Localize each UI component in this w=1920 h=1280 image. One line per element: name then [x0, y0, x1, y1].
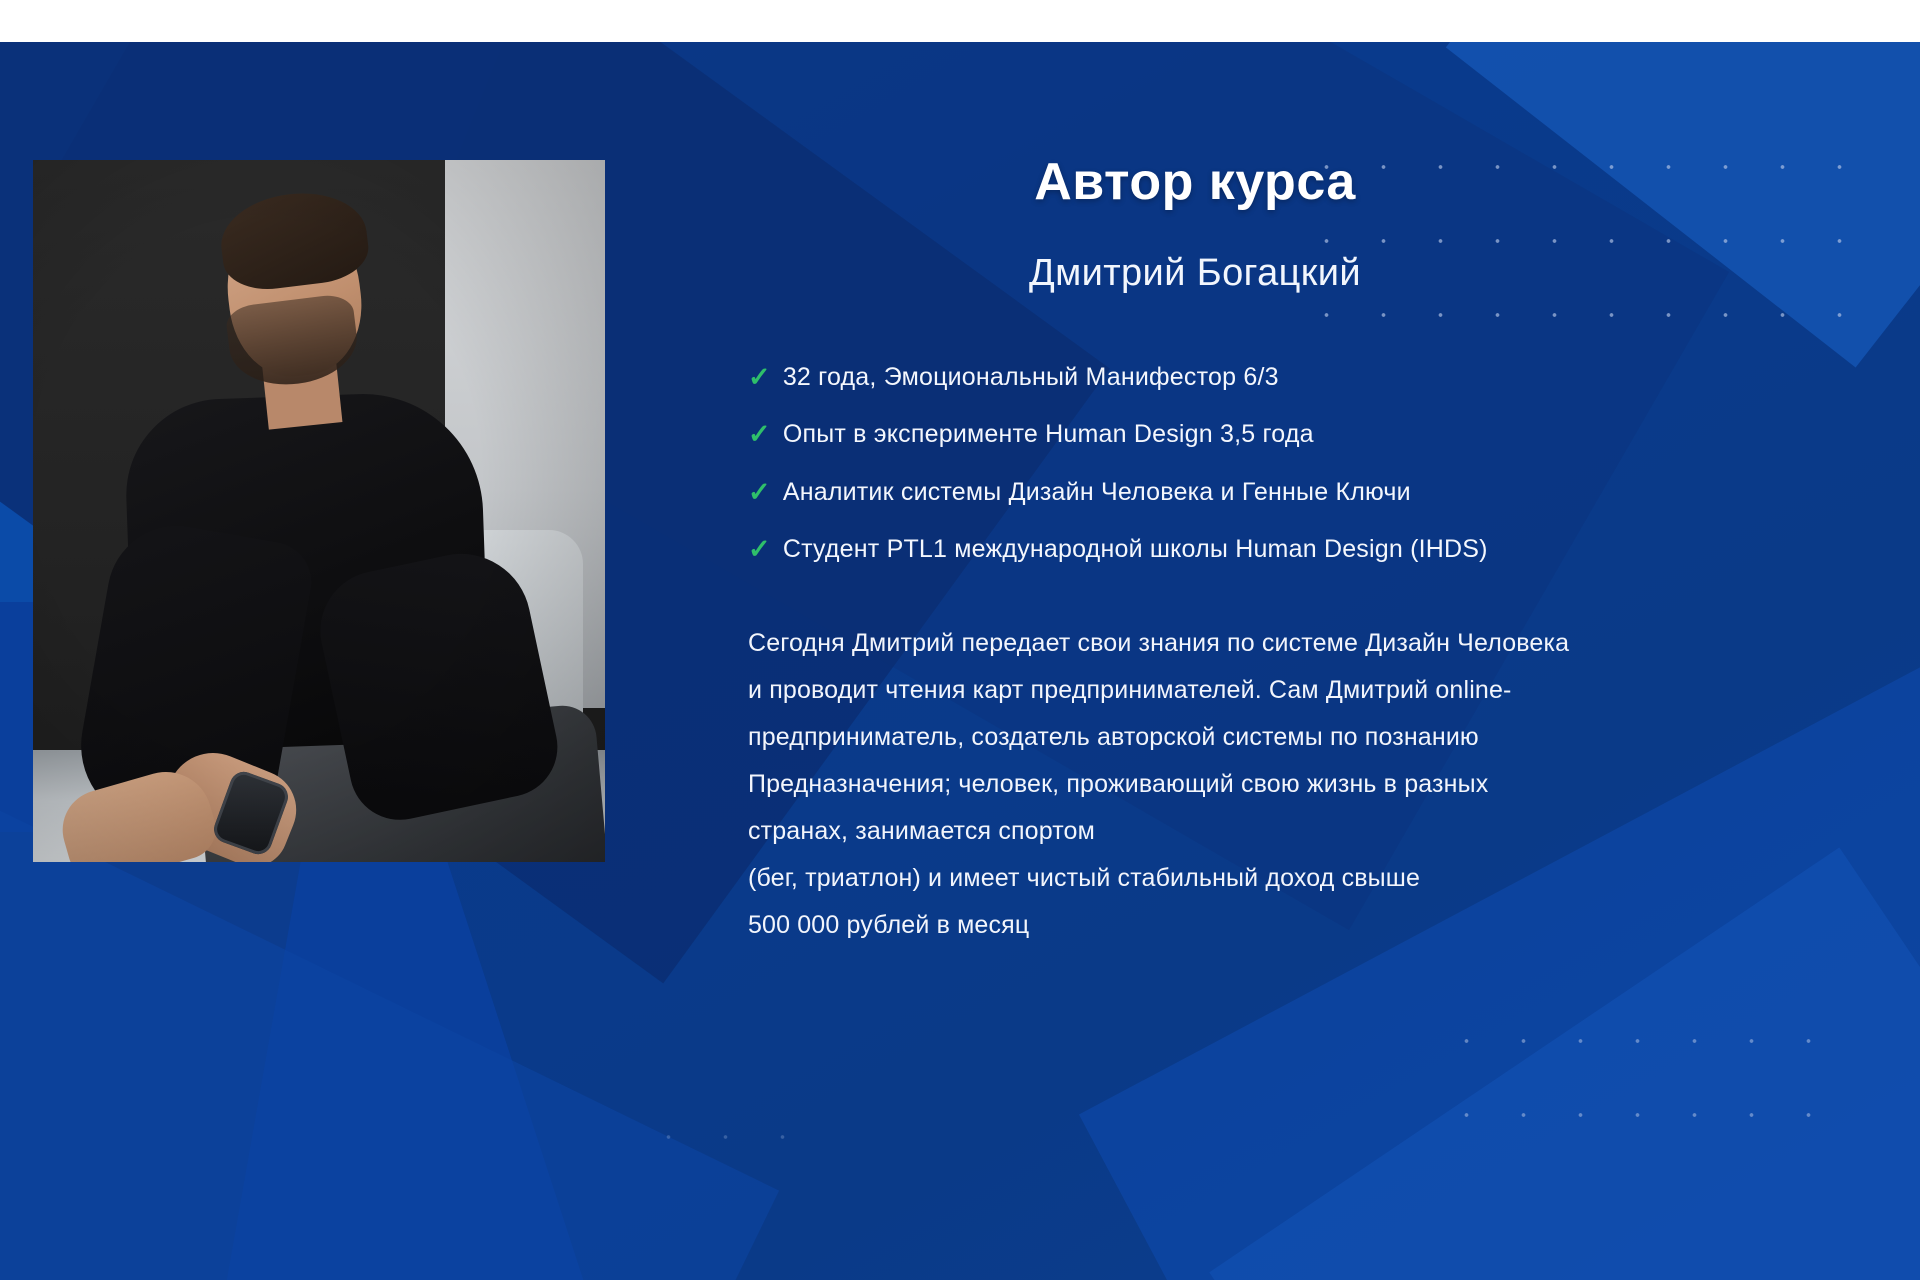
check-icon: ✓ — [748, 419, 771, 450]
content-column: Автор курса Дмитрий Богацкий ✓ 32 года, … — [730, 42, 1850, 1280]
page-title: Автор курса — [730, 152, 1660, 212]
list-item: ✓ Студент PTL1 международной школы Human… — [748, 534, 1768, 565]
slide-frame: Автор курса Дмитрий Богацкий ✓ 32 года, … — [0, 0, 1920, 1280]
list-item-label: Студент PTL1 международной школы Human D… — [783, 534, 1488, 565]
list-item: ✓ 32 года, Эмоциональный Манифестор 6/3 — [748, 362, 1768, 393]
slide-canvas: Автор курса Дмитрий Богацкий ✓ 32 года, … — [0, 42, 1920, 1280]
author-bio-paragraph: Сегодня Дмитрий передает свои знания по … — [748, 620, 1748, 949]
credentials-list: ✓ 32 года, Эмоциональный Манифестор 6/3 … — [748, 362, 1768, 591]
author-name: Дмитрий Богацкий — [730, 252, 1660, 295]
check-icon: ✓ — [748, 362, 771, 393]
list-item: ✓ Опыт в эксперименте Human Design 3,5 г… — [748, 419, 1768, 450]
list-item: ✓ Аналитик системы Дизайн Человека и Ген… — [748, 477, 1768, 508]
check-icon: ✓ — [748, 477, 771, 508]
check-icon: ✓ — [748, 534, 771, 565]
list-item-label: Опыт в эксперименте Human Design 3,5 год… — [783, 419, 1314, 450]
list-item-label: Аналитик системы Дизайн Человека и Генны… — [783, 477, 1411, 508]
top-letterbox — [0, 0, 1920, 42]
list-item-label: 32 года, Эмоциональный Манифестор 6/3 — [783, 362, 1279, 393]
photo-vignette — [33, 160, 605, 862]
author-photo — [33, 160, 605, 862]
